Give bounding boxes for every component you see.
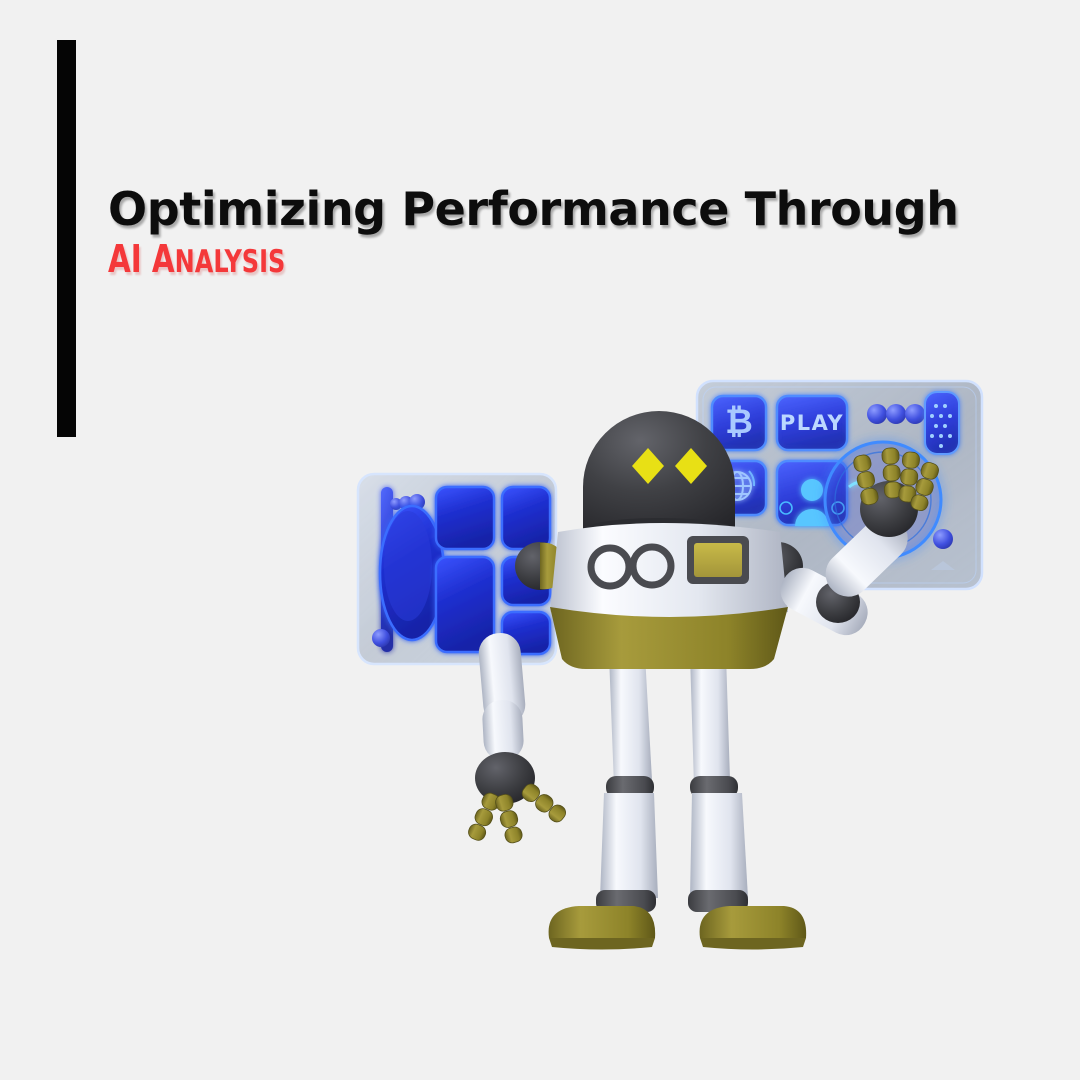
panel-dot-small-right <box>933 529 953 549</box>
right-shoulder-pad <box>754 543 778 590</box>
chest-lower <box>550 607 788 669</box>
user-icon <box>795 479 829 526</box>
subtitle-rest: NALYSIS <box>175 244 286 280</box>
chest-screen <box>687 536 749 584</box>
left-foot <box>549 906 656 938</box>
left-shin <box>600 793 658 898</box>
right-holographic-panel: ₿ PLAY <box>697 381 982 589</box>
right-thigh <box>690 655 730 786</box>
right-elbow <box>816 581 860 623</box>
right-shoulder-ball <box>753 542 803 590</box>
subtitle-a: A <box>152 237 175 281</box>
circular-dial <box>825 442 941 558</box>
left-knee <box>606 776 654 798</box>
right-hip <box>688 641 732 663</box>
page-title: Optimizing Performance Through <box>108 186 968 232</box>
headline-block: Optimizing Performance Through AI ANALYS… <box>108 186 968 278</box>
bitcoin-icon: ₿ <box>725 402 753 442</box>
page-subtitle: AI ANALYSIS <box>108 240 848 278</box>
right-shin <box>690 793 748 898</box>
panel-dots-left <box>390 494 425 510</box>
left-panel-tiles <box>436 487 550 654</box>
globe-tile <box>712 461 766 515</box>
user-tile <box>777 461 847 526</box>
right-foot <box>700 906 807 938</box>
left-holographic-panel <box>358 474 556 664</box>
panel-dots-right <box>867 404 925 424</box>
left-thigh <box>609 655 652 786</box>
tile-5 <box>502 612 550 654</box>
accent-bar <box>57 40 76 437</box>
pattern-pill <box>925 392 959 454</box>
right-eye <box>675 448 707 484</box>
chest-upper <box>550 523 788 622</box>
right-foot-sole <box>700 938 806 950</box>
bitcoin-tile: ₿ <box>712 396 766 450</box>
chest-dial-2 <box>633 547 671 585</box>
robot-torso <box>515 523 803 669</box>
play-tile: PLAY <box>777 396 847 450</box>
panel-caret-icon <box>931 561 955 570</box>
tile-3 <box>436 557 494 652</box>
panel-dot-small-left <box>372 629 390 647</box>
poster-canvas: Optimizing Performance Through AI ANALYS… <box>0 0 1080 1080</box>
chest-dial-1 <box>591 548 629 586</box>
robot <box>466 411 940 950</box>
subtitle-ai: AI <box>108 237 152 281</box>
globe-icon <box>723 471 754 500</box>
right-ankle <box>688 890 748 912</box>
robot-legs <box>549 655 807 950</box>
robot-left-arm <box>466 631 568 844</box>
robot-illustration: ₿ PLAY <box>0 0 1080 1080</box>
oval-screen <box>380 506 444 640</box>
tile-4 <box>502 557 550 605</box>
tile-2 <box>502 487 550 549</box>
robot-right-arm <box>773 447 940 642</box>
right-fingers <box>852 447 940 512</box>
left-ankle <box>596 890 656 912</box>
left-hand <box>475 752 535 804</box>
robot-head <box>583 411 735 542</box>
left-foot-sole <box>549 938 655 950</box>
left-fingers <box>466 781 568 844</box>
play-label: PLAY <box>780 411 844 435</box>
left-shoulder-ball <box>515 542 565 590</box>
left-shoulder-pad <box>540 543 564 590</box>
tile-1 <box>436 487 494 549</box>
left-eye <box>632 448 664 484</box>
right-knee <box>690 776 738 798</box>
left-hip <box>606 641 650 663</box>
right-hand <box>860 481 918 537</box>
